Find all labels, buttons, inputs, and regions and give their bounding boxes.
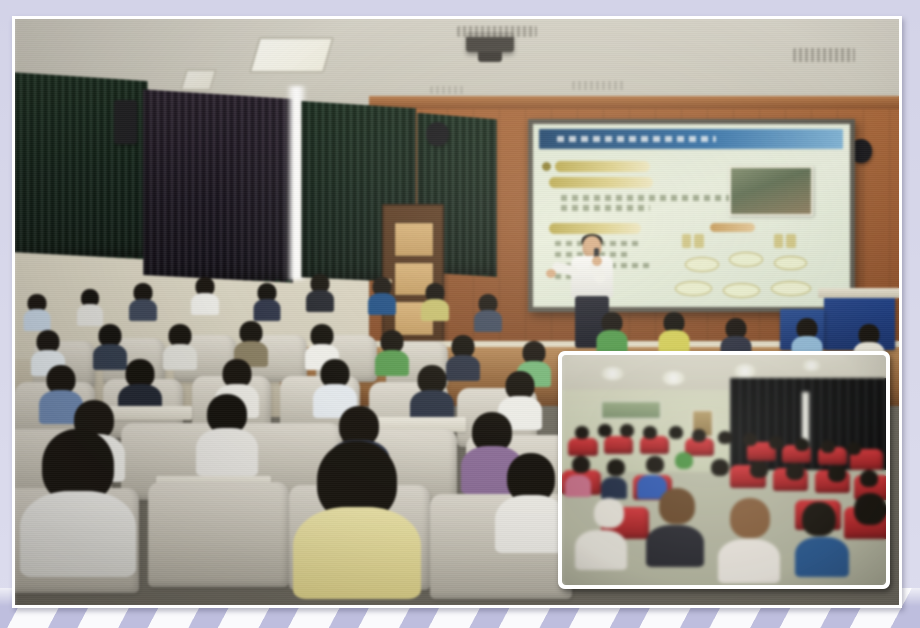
inset-audience-head [847,442,861,455]
inset-audience-head [575,426,589,439]
wall-speaker-icon [114,100,137,144]
audience-member [95,324,125,364]
slide-bullet-icon [542,162,551,171]
body [368,293,396,315]
inset-ceiling-light-icon [734,364,757,378]
slide-diagram-icon [774,234,784,249]
body [474,310,502,332]
inset-seat [604,436,633,454]
audience-member [201,394,253,464]
ceiling-light-icon [248,37,333,73]
audience-member [413,365,451,415]
body [196,428,258,476]
inset-audience-head [860,470,878,487]
audience-member [422,283,448,317]
slide-accent-chip [710,223,754,232]
ceiling-vent-icon [457,26,537,37]
audience-member [77,289,103,323]
audience-member [307,324,337,364]
inset-audience-head [594,498,624,528]
audience-member [236,321,266,361]
auditorium-seat [148,482,289,587]
slide-photo-thumbnail [729,166,812,216]
body [306,290,334,312]
audience-member [377,330,407,370]
inset-audience-head [620,424,634,437]
audience-member-foreground [33,429,123,549]
slide-title-band [539,129,843,149]
audience-member [24,294,50,328]
audience-member [475,294,501,328]
body [293,507,421,599]
inset-audience-head [675,452,693,469]
slide-diagram-node [771,281,811,296]
slide-diagram-icon [682,234,692,249]
wall-speaker-icon [426,122,449,147]
body [163,344,197,370]
blackout-curtain [143,89,293,282]
inset-audience-head [572,456,590,473]
inset-audience-body [575,530,627,570]
slide-diagram-node [685,257,719,272]
slide-diagram-node [675,281,712,296]
audience-member [121,359,159,409]
body [129,299,157,321]
presenter-right-hand [592,256,602,266]
body [495,495,567,553]
body [23,309,50,331]
body [191,293,219,315]
audience-member [793,318,821,354]
inset-green-board [601,401,661,419]
wood-panel-trim [369,96,899,109]
inset-audience-head [769,436,783,449]
inset-ceiling-light-icon [802,360,821,372]
slide-heading-bar [555,161,650,172]
lectern-top-surface [818,288,899,298]
inset-audience-head [730,498,770,538]
inset-audience-body [646,525,704,567]
main-photo-frame [12,16,902,608]
audience-member-foreground [501,453,561,533]
main-photo [15,19,899,605]
slide-heading-bar [549,223,641,234]
audience-member [192,277,218,311]
inset-audience-head [828,465,846,482]
inset-audience-head [786,463,804,480]
ceiling-vent-icon [430,86,465,94]
inset-audience-head [750,461,768,478]
audience-member [448,335,478,375]
audience-member [165,324,195,364]
slide-diagram-node [774,256,808,271]
slide-diagram-icon [786,234,796,249]
inset-audience-head [659,488,695,524]
door-glass-panel [394,222,433,256]
audience-member [130,283,156,317]
slide-heading-bar [549,177,654,188]
inset-audience-head [643,426,657,439]
audience-member [660,312,688,348]
inset-ceiling-light-icon [662,371,685,385]
slide-diagram-node [729,252,763,267]
body [77,304,103,326]
body [375,350,409,376]
slide-diagram-icon [694,234,704,249]
body [253,299,280,321]
inset-audience-body [718,539,780,583]
inset-audience-body [601,477,627,499]
inset-audience-head [821,440,835,453]
slide-diagram-node [723,283,760,298]
body [20,491,136,577]
audience-member [598,312,626,348]
audience-member [316,359,354,409]
audience-member [722,318,750,354]
body [421,299,449,321]
inset-audience-body [795,537,849,577]
inset-audience-head [711,459,729,476]
inset-seat [640,436,669,454]
inset-audience-head [743,433,757,446]
inset-seat [568,438,597,456]
inset-photo-frame[interactable] [558,351,890,589]
inset-audience-head [718,431,732,444]
inset-audience-head [607,459,625,476]
inset-audience-body [565,475,591,497]
slide-body-line [561,195,745,201]
body [446,355,480,381]
ceiling-vent-icon [793,48,855,62]
audience-member [307,274,333,308]
inset-audience-head [802,502,836,536]
inset-audience-head [854,493,886,525]
inset-audience-head [795,438,809,451]
inset-audience-head [669,426,683,439]
screenshot-root [0,0,920,628]
ceiling-vent-icon [572,81,625,90]
audience-member [369,277,395,311]
inset-audience-head [598,424,612,437]
presenter-left-hand [546,269,556,278]
inset-audience-head [692,429,706,442]
ceiling-light-icon [180,69,217,91]
audience-member [33,330,63,370]
inset-ceiling-light-icon [601,367,624,381]
inset-audience-head [646,456,664,473]
inset-photo [562,355,886,585]
slide-body-line [561,205,650,211]
audience-member-foreground [307,441,407,571]
audience-member [254,283,280,317]
